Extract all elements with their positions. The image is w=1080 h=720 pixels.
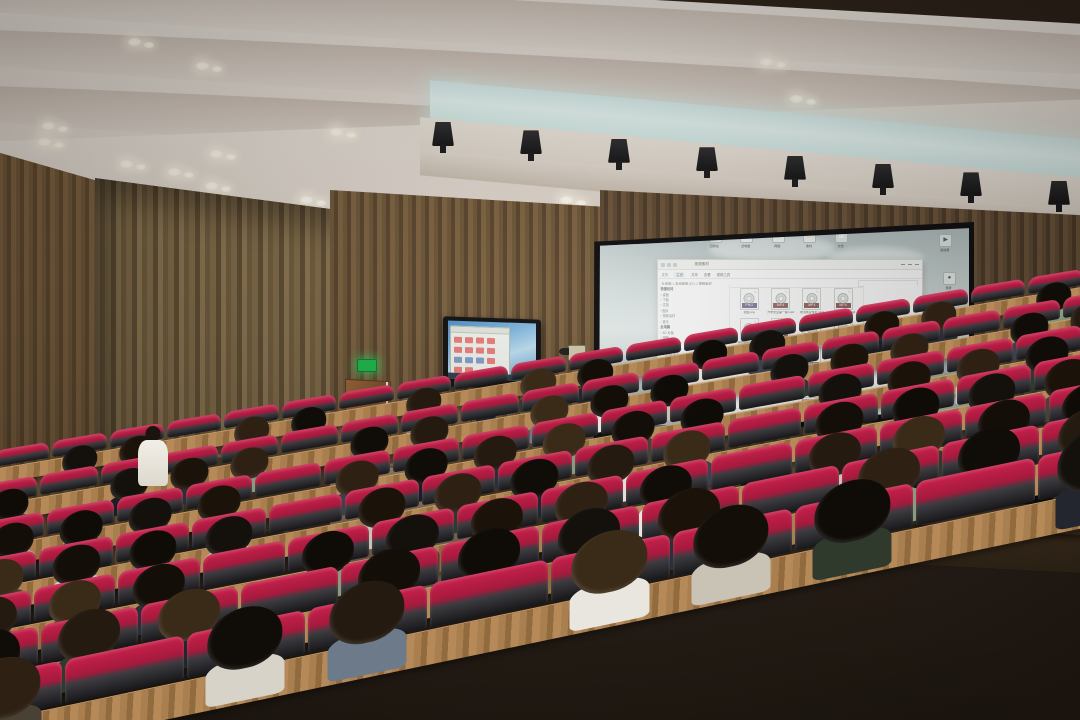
ceiling-downlight [128,38,141,46]
ribbon-tab[interactable]: 主页 [674,272,685,277]
desktop-icon-label: 录屏 [943,286,954,290]
ceiling-downlight [806,99,816,105]
track-spotlight [870,164,896,198]
ceiling-downlight [316,200,326,206]
file-name: 封面.png [734,311,764,314]
file-thumbnail: MP4 [802,288,821,310]
track-spotlight [694,147,720,181]
ceiling-downlight [168,168,181,176]
file-thumbnail: PNG [740,288,759,310]
ceiling-downlight [776,62,786,68]
explorer-title-bar[interactable]: 视频素材 [658,260,922,270]
ribbon-tab[interactable]: 查看 [704,272,711,277]
track-spotlight [958,172,984,206]
ribbon-tab[interactable]: 视频工具 [717,272,731,277]
ceiling-downlight [330,128,343,136]
track-spotlight [518,130,544,164]
desktop-icon-label: 播放器 [939,248,950,252]
desktop-icon-label: 素材 [803,244,814,248]
file-item[interactable]: PNG封面.png [734,288,764,314]
ceiling-downlight [136,164,146,170]
ceiling-downlight [120,160,133,168]
ceiling-downlight [210,150,223,158]
file-type-tag: PNG [742,303,757,308]
ceiling-downlight [144,42,154,48]
audience-member [329,566,404,683]
ceiling-downlight [38,138,51,146]
standing-attendee [138,426,168,488]
ceiling-downlight [226,154,236,160]
ceiling-downlight [221,186,231,192]
file-item[interactable]: MP4开学安全第一课.mp4 [765,288,795,314]
save-icon[interactable] [661,263,665,267]
minimize-icon[interactable] [901,264,905,265]
app-icon[interactable]: ▶播放器 [939,234,950,252]
close-icon[interactable] [915,264,919,265]
audience-member [693,489,768,606]
ceiling-downlight [58,126,68,132]
audience-member [1058,413,1080,530]
desktop-icon-label: 文档 [835,244,846,248]
exit-sign-icon [357,359,377,372]
desktop-icon-label: 网络 [772,244,783,248]
ceiling-downlight [196,62,209,70]
ceiling-downlight [184,172,194,178]
app-icon[interactable]: ●录屏 [943,272,954,290]
explorer-title-text: 视频素材 [695,262,709,267]
ceiling-downlight [346,132,356,138]
desktop-icon-label: 此电脑 [740,244,751,248]
track-spotlight [606,139,632,173]
maximize-icon[interactable] [908,264,912,265]
redo-icon[interactable] [673,263,677,267]
audience-member [815,464,890,581]
ceiling-downlight [205,182,218,190]
track-spotlight [430,122,456,156]
explorer-ribbon-tabs[interactable]: 文件主页共享查看视频工具 [658,270,922,279]
ceiling-downlight [54,142,64,148]
file-thumbnail: MP4 [771,288,790,310]
undo-icon[interactable] [667,263,671,267]
file-type-tag: MP4 [804,303,819,308]
app-icon-glyph: ● [943,272,956,285]
ceiling-downlight [760,58,773,66]
audience-member [572,515,647,632]
ribbon-tab[interactable]: 文件 [662,272,669,277]
track-spotlight [782,156,808,190]
audience-member [0,642,40,720]
ceiling-downlight [42,122,55,130]
track-spotlight [1046,181,1072,215]
file-name: 开学安全第一课.mp4 [765,311,795,314]
file-item[interactable]: MP4防溺水宣传片.mp4 [797,288,827,314]
auditorium-photo: ♻回收站🖥此电脑⇄网络📁素材📄文档 ▶播放器●录屏▤压缩包◎浏览器📄讲稿⚙工具 … [0,0,1080,720]
desktop-icon-label: 回收站 [709,244,720,248]
ribbon-tab[interactable]: 共享 [691,272,698,277]
ceiling-downlight [560,196,573,204]
ceiling-downlight [300,196,313,204]
audience-head [1058,421,1080,498]
app-icon-glyph: ▶ [939,234,952,247]
audience-member [208,591,283,708]
ceiling-downlight [212,66,222,72]
ceiling-downlight [790,95,803,103]
file-type-tag: MP4 [773,303,788,308]
window-controls[interactable] [901,264,919,265]
